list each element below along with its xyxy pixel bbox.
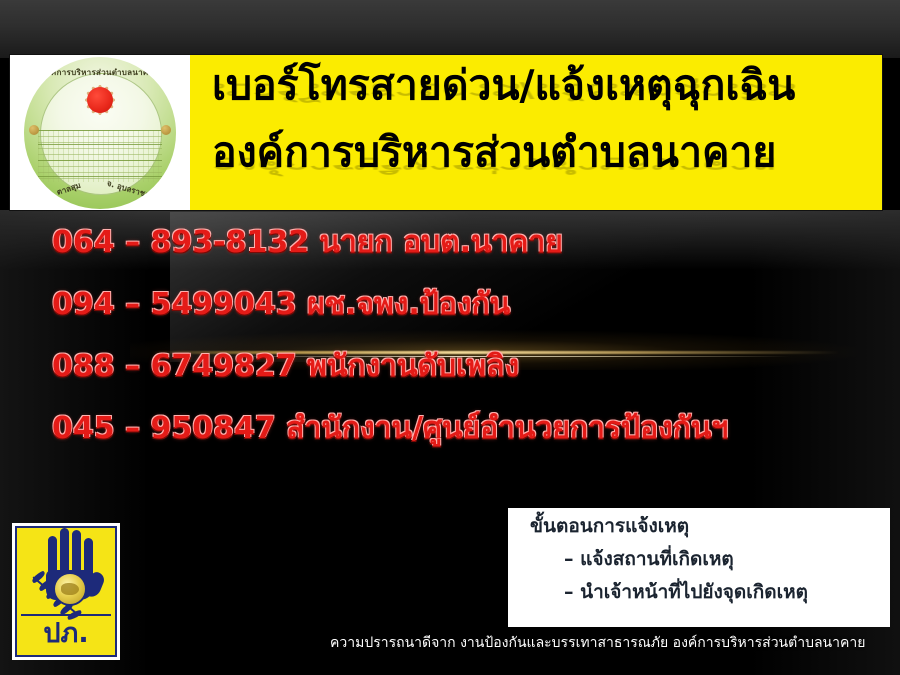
steps-item: – นำเจ้าหน้าที่ไปยังจุดเกิดเหตุ (564, 582, 890, 603)
seal-logo-box: องค์การบริหารส่วนตำบลนาคาย อ. ตาลสุม จ. … (10, 55, 190, 210)
ddpm-label: ปภ. (17, 618, 115, 650)
seal-text-top: องค์การบริหารส่วนตำบลนาคาย (42, 66, 159, 79)
phone-row[interactable]: 088 – 6749827 พนักงานดับเพลิง (52, 352, 892, 382)
report-steps-box: ขั้นตอนการแจ้งเหตุ – แจ้งสถานที่เกิดเหตุ… (508, 508, 890, 627)
background-top-gradient (0, 0, 900, 58)
seal-ornament-right-icon (161, 125, 171, 135)
ddpm-logo: ปภ. (12, 523, 120, 660)
phone-row[interactable]: 045 – 950847 สำนักงาน/ศูนย์อำนวยการป้องก… (52, 414, 892, 444)
municipal-seal-icon: องค์การบริหารส่วนตำบลนาคาย อ. ตาลสุม จ. … (24, 57, 176, 209)
seal-ornament-left-icon (29, 125, 39, 135)
footer-credit: ความปรารถนาดีจาก งานป้องกันและบรรเทาสาธา… (330, 632, 865, 654)
seal-ricefield-icon (38, 130, 162, 182)
phone-row[interactable]: 094 – 5499043 ผช.จพง.ป้องกัน (52, 290, 892, 320)
ddpm-logo-inner: ปภ. (15, 526, 117, 657)
emergency-hotline-poster: องค์การบริหารส่วนตำบลนาคาย อ. ตาลสุม จ. … (0, 0, 900, 675)
header-band: องค์การบริหารส่วนตำบลนาคาย อ. ตาลสุม จ. … (10, 55, 882, 210)
phone-list: 064 – 893-8132 นายก อบต.นาคาย 094 – 5499… (52, 228, 892, 476)
seal-sun-icon (87, 87, 113, 113)
title-banner: เบอร์โทรสายด่วน/แจ้งเหตุฉุกเฉิน เบอร์โทร… (190, 55, 882, 210)
banner-title-reflection-2: องค์การบริหารส่วนตำบลนาคาย (212, 149, 776, 182)
steps-item: – แจ้งสถานที่เกิดเหตุ (564, 549, 890, 570)
phone-row[interactable]: 064 – 893-8132 นายก อบต.นาคาย (52, 228, 892, 258)
ddpm-divider (21, 614, 111, 616)
steps-title: ขั้นตอนการแจ้งเหตุ (530, 516, 890, 537)
banner-title-reflection-1: เบอร์โทรสายด่วน/แจ้งเหตุฉุกเฉิน (212, 75, 795, 108)
garuda-medallion-icon (53, 572, 87, 606)
